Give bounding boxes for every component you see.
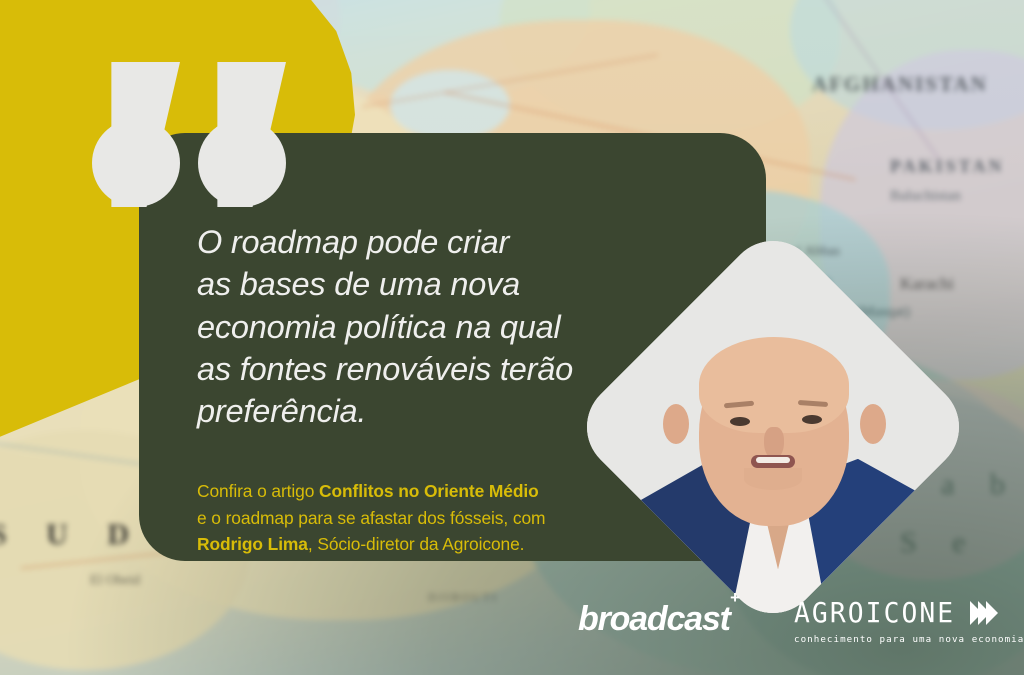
portrait-eye-left [730, 417, 750, 426]
caption-article-title: Conflitos no Oriente Médio [319, 481, 539, 501]
agroicone-tagline: conhecimento para uma nova economia [794, 634, 990, 645]
quote-glyph-left [92, 62, 180, 207]
caption-person-name: Rodrigo Lima [197, 534, 308, 554]
chevron-group-icon [969, 601, 998, 625]
quotation-mark-icon [92, 62, 292, 207]
quote-line: as fontes renováveis terão [197, 351, 573, 387]
agroicone-wordmark-row: AGROICONE [794, 596, 990, 629]
quote-line: preferência. [197, 393, 366, 429]
broadcast-plus-icon: + [730, 588, 740, 607]
portrait-photo [628, 282, 918, 572]
quote-glyph-ball [198, 119, 286, 207]
article-caption: Confira o artigo Conflitos no Oriente Mé… [197, 478, 667, 557]
logo-bar: broadcast+ AGROICONE conhecimento para u… [560, 596, 990, 658]
broadcast-logo: broadcast+ [578, 600, 740, 639]
portrait-teeth [756, 457, 790, 463]
portrait-scalp [699, 337, 849, 433]
portrait-ear-left [663, 404, 689, 444]
quote-line: O roadmap pode criar [197, 224, 509, 260]
quote-line: as bases de uma nova [197, 266, 520, 302]
quote-glyph-right [198, 62, 286, 207]
agroicone-wordmark: AGROICONE [794, 596, 955, 629]
caption-prefix: Confira o artigo [197, 481, 319, 501]
quote-line: economia política na qual [197, 309, 561, 345]
poster-canvas: TURKMENISTAN AFGHANISTAN PAKISTAN Baluch… [0, 0, 1024, 675]
broadcast-wordmark: broadcast [578, 600, 730, 638]
quote-glyph-ball [92, 119, 180, 207]
agroicone-logo: AGROICONE conhecimento para uma nova eco… [794, 596, 990, 645]
caption-line2: e o roadmap para se afastar dos fósseis,… [197, 508, 545, 528]
chevron-right-icon [986, 601, 998, 625]
portrait-ear-right [860, 404, 886, 444]
portrait-chin [744, 468, 802, 490]
caption-person-role: , Sócio-diretor da Agroicone. [308, 534, 525, 554]
